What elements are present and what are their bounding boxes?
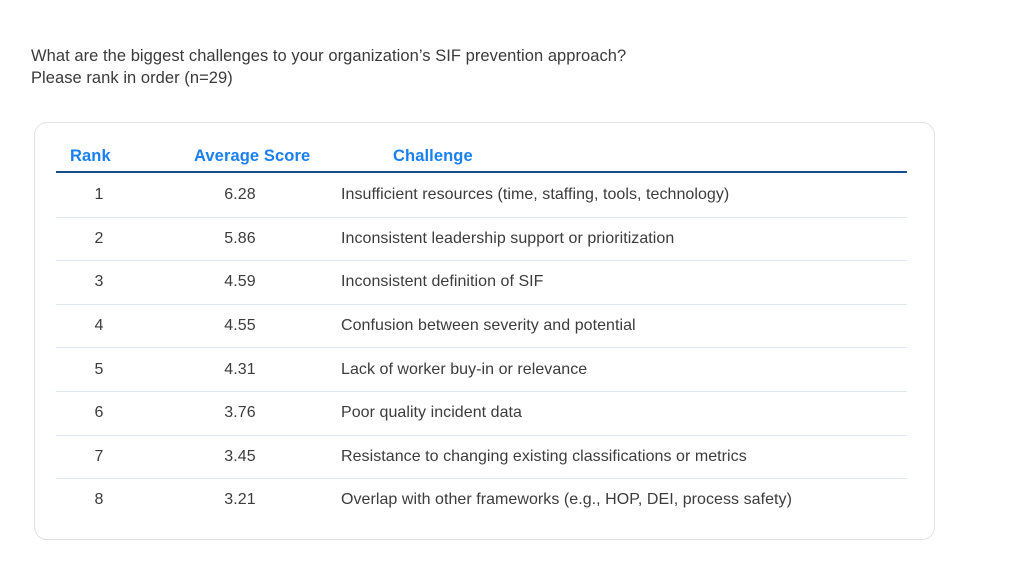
cell-rank: 3: [56, 273, 142, 291]
question-line-2: Please rank in order (n=29): [31, 67, 931, 89]
cell-average-score: 5.86: [142, 230, 338, 248]
cell-average-score: 6.28: [142, 186, 338, 204]
cell-challenge: Inconsistent leadership support or prior…: [338, 230, 907, 248]
question-prompt: What are the biggest challenges to your …: [31, 45, 931, 89]
cell-average-score: 3.21: [142, 491, 338, 509]
slide-root: What are the biggest challenges to your …: [0, 0, 1024, 576]
rankings-table: Rank Average Score Challenge 1 6.28 Insu…: [56, 123, 907, 522]
cell-average-score: 3.45: [142, 448, 338, 466]
cell-rank: 7: [56, 448, 142, 466]
cell-rank: 5: [56, 361, 142, 379]
table-row: 1 6.28 Insufficient resources (time, sta…: [56, 173, 907, 217]
column-header-average-score: Average Score: [156, 147, 390, 166]
cell-rank: 4: [56, 317, 142, 335]
table-row: 8 3.21 Overlap with other frameworks (e.…: [56, 478, 907, 522]
results-card: Rank Average Score Challenge 1 6.28 Insu…: [34, 122, 935, 540]
table-row: 6 3.76 Poor quality incident data: [56, 391, 907, 435]
cell-challenge: Lack of worker buy-in or relevance: [338, 361, 907, 379]
table-row: 5 4.31 Lack of worker buy-in or relevanc…: [56, 347, 907, 391]
cell-challenge: Confusion between severity and potential: [338, 317, 907, 335]
cell-challenge: Inconsistent definition of SIF: [338, 273, 907, 291]
cell-average-score: 4.31: [142, 361, 338, 379]
table-header-row: Rank Average Score Challenge: [56, 123, 907, 173]
cell-average-score: 4.59: [142, 273, 338, 291]
table-row: 2 5.86 Inconsistent leadership support o…: [56, 217, 907, 261]
cell-rank: 1: [56, 186, 142, 204]
table-row: 3 4.59 Inconsistent definition of SIF: [56, 260, 907, 304]
cell-challenge: Overlap with other frameworks (e.g., HOP…: [338, 491, 907, 509]
cell-rank: 8: [56, 491, 142, 509]
table-row: 7 3.45 Resistance to changing existing c…: [56, 435, 907, 479]
cell-challenge: Resistance to changing existing classifi…: [338, 448, 907, 466]
table-row: 4 4.55 Confusion between severity and po…: [56, 304, 907, 348]
cell-rank: 6: [56, 404, 142, 422]
cell-challenge: Insufficient resources (time, staffing, …: [338, 186, 907, 204]
column-header-challenge: Challenge: [390, 147, 907, 166]
question-line-1: What are the biggest challenges to your …: [31, 45, 931, 67]
cell-challenge: Poor quality incident data: [338, 404, 907, 422]
column-header-rank: Rank: [56, 147, 156, 166]
cell-rank: 2: [56, 230, 142, 248]
cell-average-score: 3.76: [142, 404, 338, 422]
cell-average-score: 4.55: [142, 317, 338, 335]
